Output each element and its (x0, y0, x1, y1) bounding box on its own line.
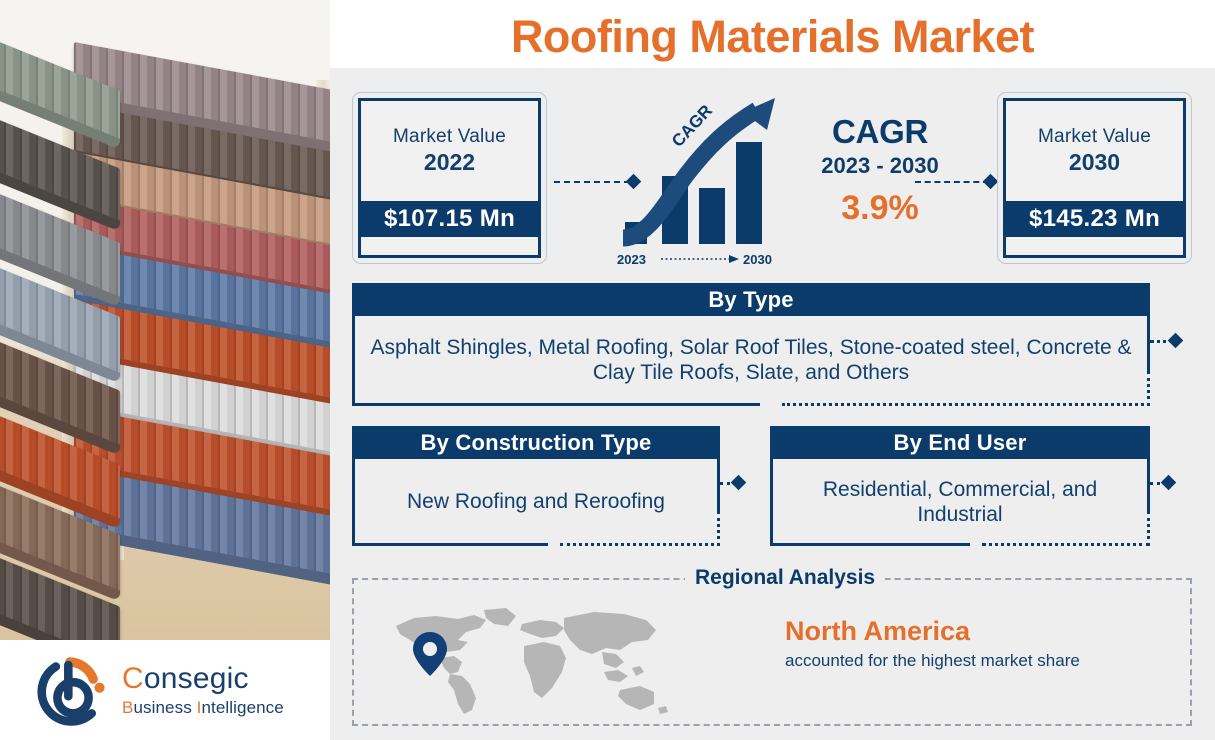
card-edge-right-dotted (1147, 371, 1150, 406)
market-value-2022-year: 2022 (424, 149, 475, 176)
card-edge-right-dotted (1147, 511, 1150, 546)
connector-right-diamond (983, 174, 999, 190)
market-value-2030-value: $145.23 Mn (1006, 201, 1183, 237)
brand-name-initial: C (122, 662, 144, 695)
market-value-2022-top: Market Value 2022 (361, 101, 538, 201)
card-edge-left (770, 459, 773, 546)
card-edge-bottom-solid (770, 543, 970, 546)
segment-body-text-by-construction-type: New Roofing and Reroofing (407, 490, 665, 515)
market-value-2022-label: Market Value (393, 126, 506, 148)
segment-body-by-construction-type: New Roofing and Reroofing (352, 459, 720, 546)
segment-heading-by-construction-type: By Construction Type (352, 426, 720, 459)
brand-logo-text: Consegic Business Intelligence (122, 664, 284, 716)
brand-logo: Consegic Business Intelligence (0, 640, 330, 740)
segment-body-by-type: Asphalt Shingles, Metal Roofing, Solar R… (352, 316, 1150, 406)
market-value-2022-footer (361, 237, 538, 255)
brand-name: Consegic (122, 664, 284, 694)
brand-tagline: Business Intelligence (122, 699, 284, 716)
infographic-root: Consegic Business Intelligence Roofing M… (0, 0, 1215, 740)
market-value-2022-card: Market Value 2022 $107.15 Mn (352, 92, 547, 264)
segment-card-by-construction-type: By Construction Type New Roofing and Rer… (352, 426, 720, 546)
connector-enduser-diamond (1161, 475, 1177, 491)
page-title: Roofing Materials Market (330, 6, 1215, 68)
cagr-value: 3.9% (785, 189, 975, 228)
cagr-title: CAGR (785, 113, 975, 151)
world-map-graphic (388, 606, 678, 716)
segment-card-by-type: By Type Asphalt Shingles, Metal Roofing,… (352, 283, 1150, 406)
market-value-2022-inner: Market Value 2022 $107.15 Mn (358, 98, 541, 258)
market-value-2030-label: Market Value (1038, 126, 1151, 148)
card-edge-right (717, 459, 720, 511)
segment-body-text-by-type: Asphalt Shingles, Metal Roofing, Solar R… (368, 336, 1134, 385)
regional-text: North America accounted for the highest … (785, 616, 1115, 672)
brand-tagline-business: usiness (133, 698, 196, 717)
market-value-2030-inner: Market Value 2030 $145.23 Mn (1003, 98, 1186, 258)
cagr-range: 2023 - 2030 (785, 153, 975, 179)
card-edge-left (352, 459, 355, 546)
connector-construction-diamond (731, 475, 747, 491)
regional-analysis-title: Regional Analysis (685, 566, 885, 590)
card-edge-bottom-dotted (782, 403, 1150, 406)
card-edge-bottom-dotted (560, 543, 720, 546)
segment-heading-by-end-user: By End User (770, 426, 1150, 459)
market-value-2030-card: Market Value 2030 $145.23 Mn (997, 92, 1192, 264)
card-edge-bottom-solid (352, 403, 760, 406)
segment-heading-by-type: By Type (352, 283, 1150, 316)
card-edge-bottom-solid (352, 543, 548, 546)
card-edge-right-dotted (717, 511, 720, 546)
connector-bytype-diamond (1168, 333, 1184, 349)
card-edge-right (1147, 316, 1150, 371)
brand-tagline-intelligence: ntelligence (201, 698, 283, 717)
regional-region-name: North America (785, 616, 1115, 647)
segment-card-by-end-user: By End User Residential, Commercial, and… (770, 426, 1150, 546)
segment-body-text-by-end-user: Residential, Commercial, and Industrial (786, 478, 1134, 527)
market-value-2030-footer (1006, 237, 1183, 255)
connector-right-line (915, 181, 989, 183)
roof-tiles-photo (0, 0, 330, 640)
segment-body-by-end-user: Residential, Commercial, and Industrial (770, 459, 1150, 546)
card-edge-right (1147, 459, 1150, 511)
regional-description: accounted for the highest market share (785, 650, 1115, 672)
card-edge-bottom-dotted (982, 543, 1150, 546)
cagr-growth-chart-icon: CAGR 2023 2030 (615, 96, 795, 268)
panel-body: Market Value 2022 $107.15 Mn (330, 68, 1215, 740)
content-panel: Roofing Materials Market Market Value 20… (330, 0, 1215, 740)
market-value-2022-value: $107.15 Mn (361, 201, 538, 237)
chart-end-year: 2030 (743, 252, 772, 267)
chart-start-year: 2023 (617, 252, 646, 267)
cagr-block: CAGR 2023 - 2030 3.9% (785, 113, 975, 228)
card-edge-left (352, 316, 355, 406)
consegic-logo-icon (34, 651, 112, 729)
market-value-2030-year: 2030 (1069, 149, 1120, 176)
brand-name-rest: onsegic (144, 662, 249, 695)
location-pin-icon (413, 632, 447, 676)
brand-tagline-b: B (122, 698, 133, 717)
market-value-2030-top: Market Value 2030 (1006, 101, 1183, 201)
